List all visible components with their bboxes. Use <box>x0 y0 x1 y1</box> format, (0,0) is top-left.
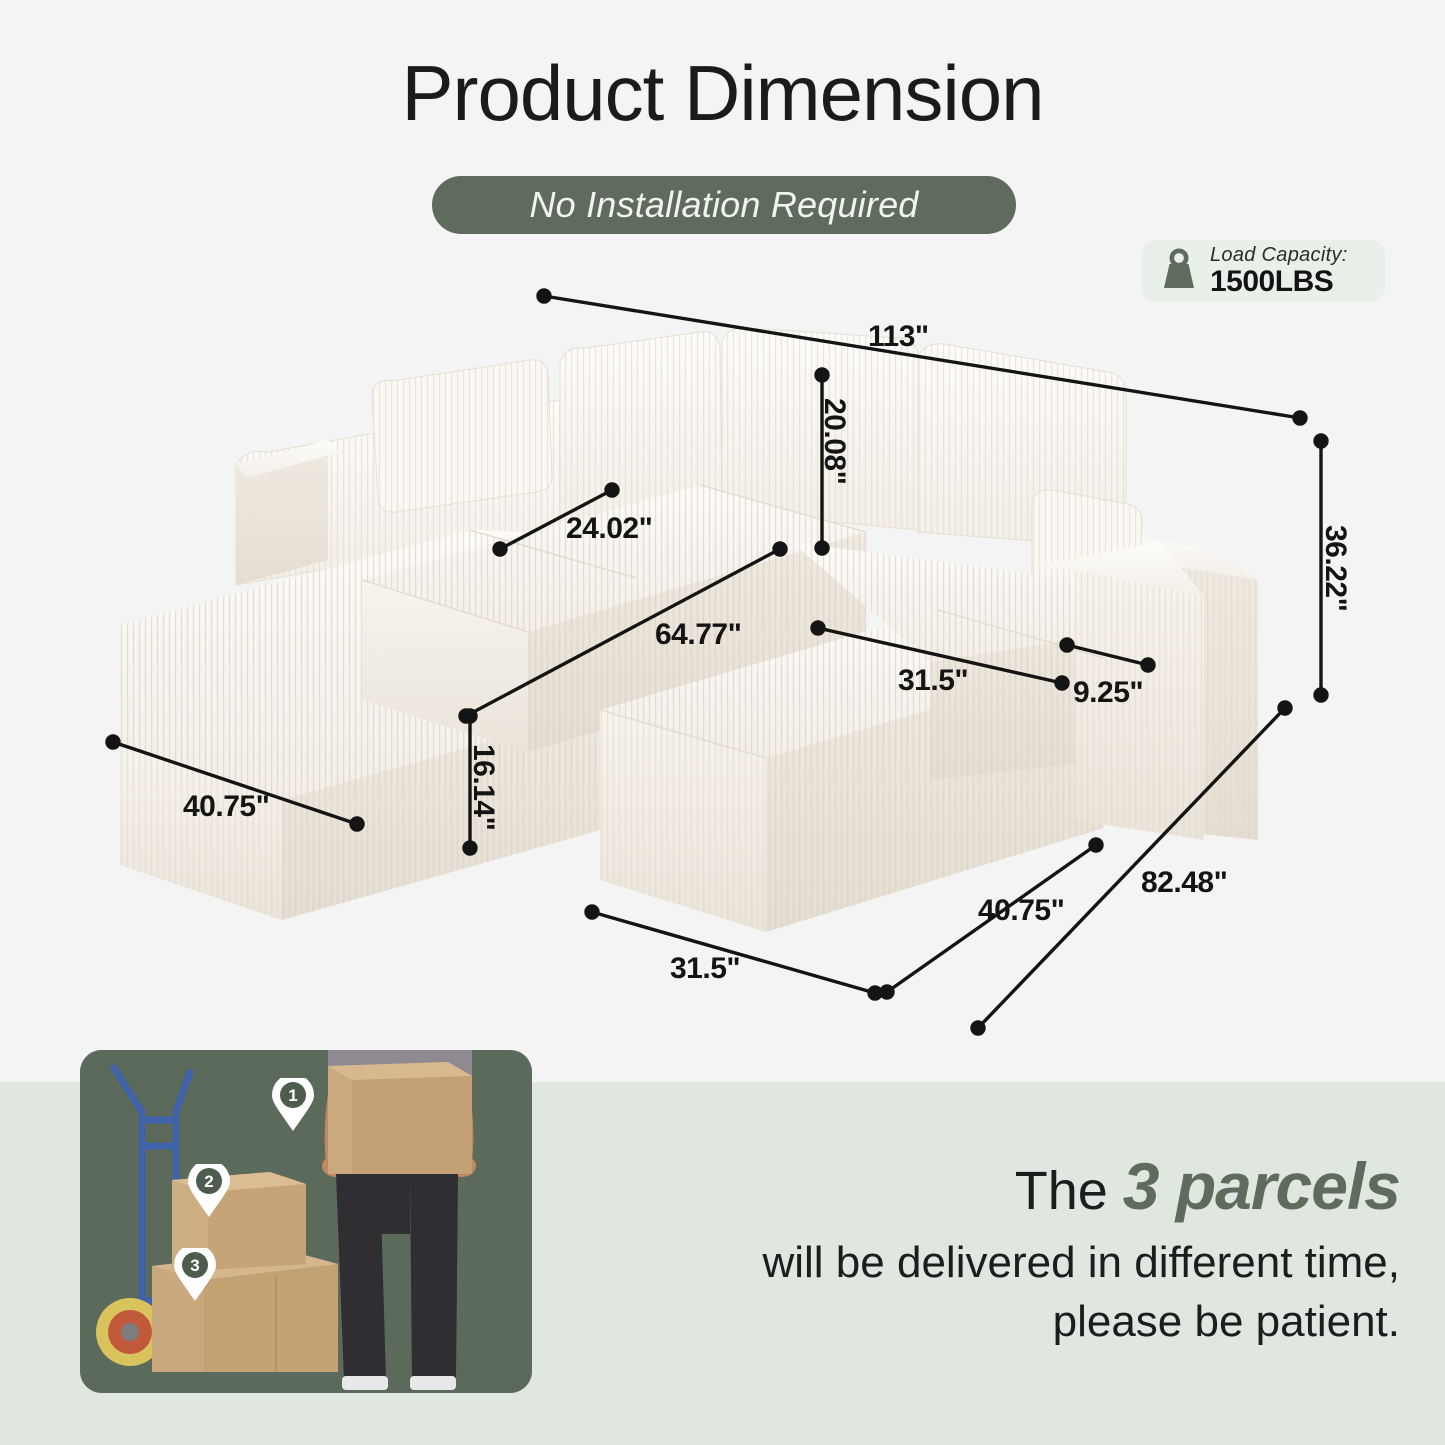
load-capacity-label: Load Capacity: <box>1210 245 1348 265</box>
delivery-message-line3: please be patient. <box>600 1292 1400 1351</box>
dim-label-module-width-front: 31.5" <box>670 952 740 986</box>
dim-label-module-width-right: 31.5" <box>898 664 968 698</box>
sofa-drawing <box>0 280 1445 1040</box>
dim-label-backrest-height: 20.08" <box>817 398 851 484</box>
dim-label-module-depth-left: 40.75" <box>183 790 269 824</box>
no-installation-badge-label: No Installation Required <box>529 184 918 226</box>
dim-label-overall-depth: 82.48" <box>1141 866 1227 900</box>
dim-label-overall-width: 113" <box>868 320 929 354</box>
no-installation-badge: No Installation Required <box>432 176 1016 234</box>
delivery-message: The 3 parcels will be delivered in diffe… <box>600 1150 1400 1351</box>
svg-text:1: 1 <box>288 1086 297 1105</box>
dim-label-seat-depth: 24.02" <box>566 512 652 546</box>
product-illustration <box>0 280 1445 1040</box>
delivery-message-highlight: 3 parcels <box>1123 1149 1400 1223</box>
dim-label-module-depth-right: 40.75" <box>978 894 1064 928</box>
delivery-message-line1: The 3 parcels <box>600 1150 1400 1223</box>
parcel-pin-3: 3 <box>174 1248 216 1302</box>
dim-label-arm-width: 9.25" <box>1073 676 1143 710</box>
infographic-root: Product Dimension No Installation Requir… <box>0 0 1445 1445</box>
delivery-message-line2: will be delivered in different time, <box>600 1233 1400 1292</box>
svg-text:2: 2 <box>204 1172 213 1191</box>
dim-label-chaise-length: 64.77" <box>655 618 741 652</box>
delivery-photo: 1 2 3 <box>80 1050 532 1393</box>
delivery-message-prefix: The <box>1015 1161 1108 1221</box>
svg-text:3: 3 <box>190 1256 199 1275</box>
page-title: Product Dimension <box>0 48 1445 139</box>
parcel-pin-2: 2 <box>188 1164 230 1218</box>
dim-label-seat-height: 16.14" <box>466 744 500 830</box>
parcel-pin-1: 1 <box>272 1078 314 1132</box>
dim-label-overall-height: 36.22" <box>1318 525 1352 611</box>
